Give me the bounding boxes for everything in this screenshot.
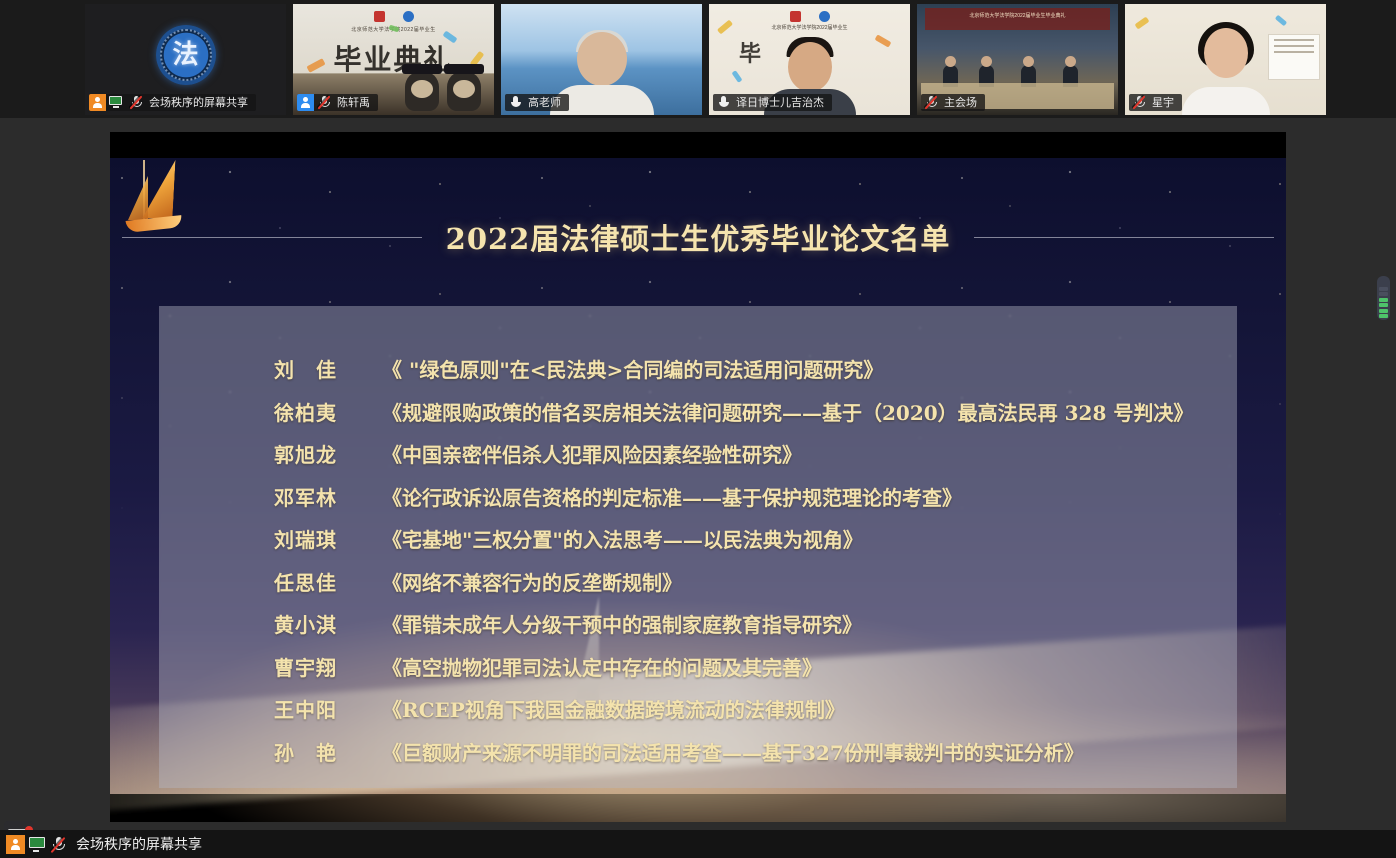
thesis-title: 《巨额财产来源不明罪的司法适用考查——基于327份刑事裁判书的实证分析》 (382, 737, 1084, 766)
participant-name: 会场秩序的屏幕共享 (147, 94, 248, 111)
mic-muted-icon (50, 836, 68, 853)
zoom-meeting-window: 法 会场秩序的屏幕共享 北京师范大学法学院2022届毕业生 毕业典礼 (0, 0, 1396, 858)
thesis-entry: 郭旭龙《中国亲密伴侣杀人犯罪风险因素经验性研究》 (274, 439, 1237, 468)
audio-level-meter-icon (1377, 276, 1390, 320)
mic-muted-icon (924, 95, 939, 109)
share-status-name: 会场秩序的屏幕共享 (72, 834, 202, 854)
thesis-entry: 黄小淇《罪错未成年人分级干预中的强制家庭教育指导研究》 (274, 609, 1237, 638)
participant-thumbnail-5[interactable]: 北京师范大学法学院2022届毕业生毕业典礼 主会场 (917, 4, 1118, 115)
backdrop-subtitle: 北京师范大学法学院2022届毕业生 (709, 24, 910, 31)
slide-title-row: 2022届法律硕士生优秀毕业论文名单 (110, 216, 1286, 258)
screen-share-icon (29, 837, 46, 852)
mic-unmuted-icon (508, 95, 523, 109)
thesis-entry: 刘瑞琪《宅基地"三权分置"的入法思考——以民法典为视角》 (274, 524, 1237, 553)
participant-thumbnail-3[interactable]: 高老师 (501, 4, 702, 115)
participant-label-4: 译日博士儿吉治杰 (713, 94, 832, 111)
thesis-author: 黄小淇 (274, 609, 382, 638)
thesis-entry: 孙 艳《巨额财产来源不明罪的司法适用考查——基于327份刑事裁判书的实证分析》 (274, 737, 1237, 766)
presentation-slide: 2022届法律硕士生优秀毕业论文名单 刘 佳《 "绿色原则"在<民法典>合同编的… (110, 158, 1286, 794)
thesis-author: 徐柏夷 (274, 397, 382, 426)
audio-meter-bar (1379, 309, 1388, 313)
screen-share-icon (109, 96, 123, 108)
participant-thumbnail-4[interactable]: 北京师范大学法学院2022届毕业生 毕 译日博士儿吉治杰 (709, 4, 910, 115)
room-banner-text: 北京师范大学法学院2022届毕业生毕业典礼 (917, 12, 1118, 19)
slide-title: 2022届法律硕士生优秀毕业论文名单 (446, 216, 951, 258)
thesis-title: 《中国亲密伴侣杀人犯罪风险因素经验性研究》 (382, 439, 802, 468)
thesis-title: 《网络不兼容行为的反垄断规制》 (382, 567, 682, 596)
seal-character: 法 (172, 42, 198, 68)
mic-muted-icon (129, 95, 144, 109)
thesis-title: 《 "绿色原则"在<民法典>合同编的司法适用问题研究》 (382, 354, 883, 383)
graduation-bear-icon (405, 71, 439, 111)
thesis-title: 《论行政诉讼原告资格的判定标准——基于保护规范理论的考查》 (382, 482, 962, 511)
thesis-author: 刘瑞琪 (274, 524, 382, 553)
thesis-entry: 徐柏夷《规避限购政策的借名买房相关法律问题研究——基于（2020）最高法民再 3… (274, 397, 1237, 426)
thesis-entry: 刘 佳《 "绿色原则"在<民法典>合同编的司法适用问题研究》 (274, 354, 1237, 383)
participant-thumbnail-2[interactable]: 北京师范大学法学院2022届毕业生 毕业典礼 陈轩禹 (293, 4, 494, 115)
torso (1182, 87, 1270, 115)
person-icon (297, 94, 314, 111)
thesis-entry: 曹宇翔《高空抛物犯罪司法认定中存在的问题及其完善》 (274, 652, 1237, 681)
share-status-bar: 会场秩序的屏幕共享 (0, 830, 1396, 858)
audio-meter-bar (1379, 303, 1388, 307)
participant-name: 高老师 (526, 94, 561, 111)
audio-meter-bar (1379, 298, 1388, 302)
participant-thumbnail-6[interactable]: 星宇 (1125, 4, 1326, 115)
thesis-list: 刘 佳《 "绿色原则"在<民法典>合同编的司法适用问题研究》徐柏夷《规避限购政策… (159, 306, 1237, 766)
participant-name: 陈轩禹 (335, 94, 370, 111)
audio-meter-bar (1379, 314, 1388, 318)
person-icon (89, 94, 106, 111)
shared-screen-frame[interactable]: 2022届法律硕士生优秀毕业论文名单 刘 佳《 "绿色原则"在<民法典>合同编的… (110, 132, 1286, 822)
participant-label-2: 陈轩禹 (297, 94, 378, 111)
thesis-author: 刘 佳 (274, 354, 382, 383)
shared-screen-stage: 2022届法律硕士生优秀毕业论文名单 刘 佳《 "绿色原则"在<民法典>合同编的… (0, 118, 1396, 830)
backdrop-card (1268, 34, 1320, 80)
thesis-author: 任思佳 (274, 567, 382, 596)
thesis-title: 《规避限购政策的借名买房相关法律问题研究——基于（2020）最高法民再 328 … (382, 397, 1193, 426)
participant-name: 主会场 (942, 94, 977, 111)
participant-label-6: 星宇 (1129, 94, 1182, 111)
thesis-entry: 邓军林《论行政诉讼原告资格的判定标准——基于保护规范理论的考查》 (274, 482, 1237, 511)
thesis-author: 邓军林 (274, 482, 382, 511)
university-seal-icon: 法 (156, 25, 216, 85)
graduation-bear-icon (447, 71, 481, 111)
backdrop-calligraphy: 毕 (739, 36, 761, 68)
participant-name: 译日博士儿吉治杰 (734, 94, 824, 111)
mic-unmuted-icon (716, 95, 731, 109)
audio-meter-bar (1379, 292, 1388, 296)
backdrop-logos (315, 10, 472, 24)
face (1204, 28, 1248, 78)
thesis-title: 《宅基地"三权分置"的入法思考——以民法典为视角》 (382, 524, 863, 553)
thesis-title: 《罪错未成年人分级干预中的强制家庭教育指导研究》 (382, 609, 862, 638)
participant-thumbnail-1[interactable]: 法 会场秩序的屏幕共享 (85, 4, 286, 115)
mic-muted-icon (1132, 95, 1147, 109)
thesis-author: 孙 艳 (274, 737, 382, 766)
thesis-title: 《高空抛物犯罪司法认定中存在的问题及其完善》 (382, 652, 822, 681)
participant-label-1: 会场秩序的屏幕共享 (89, 94, 256, 111)
thesis-author: 郭旭龙 (274, 439, 382, 468)
thesis-list-panel: 刘 佳《 "绿色原则"在<民法典>合同编的司法适用问题研究》徐柏夷《规避限购政策… (159, 306, 1237, 788)
participant-label-3: 高老师 (505, 94, 569, 111)
participant-label-5: 主会场 (921, 94, 985, 111)
thesis-entry: 王中阳《RCEP视角下我国金融数据跨境流动的法律规制》 (274, 694, 1237, 723)
thesis-author: 曹宇翔 (274, 652, 382, 681)
face (788, 42, 832, 92)
audio-meter-bar (1379, 287, 1388, 291)
thesis-entry: 任思佳《网络不兼容行为的反垄断规制》 (274, 567, 1237, 596)
participant-name: 星宇 (1150, 94, 1174, 111)
participant-filmstrip: 法 会场秩序的屏幕共享 北京师范大学法学院2022届毕业生 毕业典礼 (0, 0, 1396, 118)
thesis-author: 王中阳 (274, 694, 382, 723)
thesis-title: 《RCEP视角下我国金融数据跨境流动的法律规制》 (382, 694, 845, 723)
mic-muted-icon (317, 95, 332, 109)
person-icon (6, 835, 25, 854)
backdrop-logos (731, 10, 888, 24)
title-rule-right (974, 237, 1274, 238)
title-rule-left (122, 237, 422, 238)
face (577, 32, 627, 86)
